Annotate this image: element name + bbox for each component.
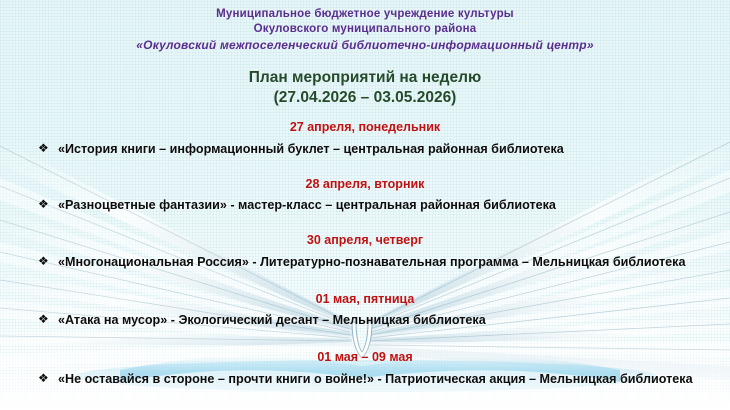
- diamond-bullet-icon: ❖: [38, 254, 58, 270]
- day-block: 27 апреля, понедельник ❖ «История книги …: [0, 118, 730, 157]
- day-block: 01 мая, пятница ❖ «Атака на мусор» - Эко…: [0, 290, 730, 329]
- plan-period-text: (27.04.2026 – 03.05.2026): [0, 88, 730, 109]
- day-block: 01 мая – 09 мая ❖ «Не оставайся в сторон…: [0, 348, 730, 387]
- poster-content: Муниципальное бюджетное учреждение культ…: [0, 0, 730, 410]
- diamond-bullet-icon: ❖: [38, 312, 58, 328]
- list-item: ❖ «Атака на мусор» - Экологический десан…: [0, 308, 730, 329]
- list-item: ❖ «Разноцветные фантазии» - мастер-класс…: [0, 193, 730, 214]
- day-date: 28 апреля, вторник: [0, 175, 730, 194]
- day-date: 01 мая, пятница: [0, 290, 730, 309]
- spacer: [0, 215, 730, 224]
- page-title: План мероприятий на неделю (27.04.2026 –…: [0, 68, 730, 110]
- list-item: ❖ «История книги – информационный буклет…: [0, 137, 730, 158]
- diamond-bullet-icon: ❖: [38, 141, 58, 157]
- spacer: [0, 159, 730, 168]
- event-description: «История книги – информационный буклет –…: [58, 141, 714, 158]
- organization-line-3: «Окуловский межпоселенческий библиотечно…: [0, 38, 730, 54]
- plan-title-text: План мероприятий на неделю: [0, 68, 730, 89]
- event-description: «Не оставайся в стороне – прочти книги о…: [58, 371, 714, 388]
- organization-header: Муниципальное бюджетное учреждение культ…: [0, 0, 730, 54]
- list-item: ❖ «Многонациональная Россия» - Литератур…: [0, 250, 730, 271]
- organization-line-1: Муниципальное бюджетное учреждение культ…: [0, 7, 730, 22]
- event-description: «Разноцветные фантазии» - мастер-класс –…: [58, 197, 714, 214]
- list-item: ❖ «Не оставайся в стороне – прочти книги…: [0, 367, 730, 388]
- spacer: [0, 330, 730, 341]
- day-date: 01 мая – 09 мая: [0, 348, 730, 367]
- event-description: «Многонациональная Россия» - Литературно…: [58, 254, 714, 271]
- event-description: «Атака на мусор» - Экологический десант …: [58, 312, 714, 329]
- day-block: 30 апреля, четверг ❖ «Многонациональная …: [0, 231, 730, 270]
- diamond-bullet-icon: ❖: [38, 371, 58, 387]
- organization-line-2: Окуловского муниципального района: [0, 22, 730, 37]
- day-date: 27 апреля, понедельник: [0, 118, 730, 137]
- diamond-bullet-icon: ❖: [38, 197, 58, 213]
- event-plan-poster: Муниципальное бюджетное учреждение культ…: [0, 0, 730, 410]
- day-block: 28 апреля, вторник ❖ «Разноцветные фанта…: [0, 175, 730, 214]
- schedule-list: 27 апреля, понедельник ❖ «История книги …: [0, 118, 730, 387]
- day-date: 30 апреля, четверг: [0, 231, 730, 250]
- spacer: [0, 272, 730, 283]
